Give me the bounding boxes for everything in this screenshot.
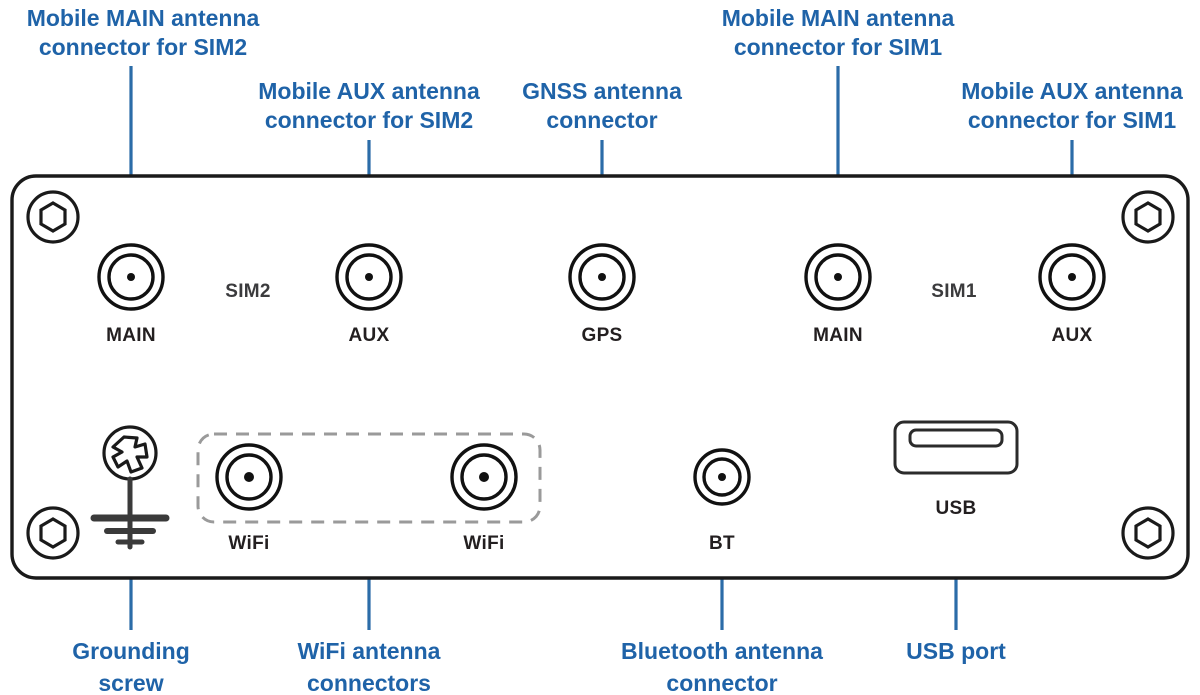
- device-body-outline: [12, 176, 1188, 578]
- connector-sim2-main[interactable]: [99, 245, 163, 309]
- callout-mobile-aux-sim1-line2: connector for SIM1: [968, 107, 1177, 133]
- connector-gps[interactable]: [570, 245, 634, 309]
- label-connector-bt: BT: [709, 533, 735, 554]
- connector-sim1-aux[interactable]: [1040, 245, 1104, 309]
- callout-grounding-screw-line1: Grounding: [72, 638, 190, 664]
- label-usb-port: USB: [935, 498, 976, 519]
- top-callout-labels: Mobile MAIN antenna connector for SIM2 M…: [27, 5, 1183, 133]
- callout-mobile-main-sim1-line2: connector for SIM1: [734, 34, 943, 60]
- sim2-group-label: SIM2: [225, 281, 271, 302]
- screw-top-right: [1123, 192, 1173, 242]
- device-body: [12, 176, 1188, 578]
- label-connector-wifi-left: WiFi: [228, 533, 269, 554]
- connector-wifi-left[interactable]: [217, 445, 281, 509]
- connector-bt[interactable]: [695, 450, 749, 504]
- callout-grounding-screw-line2: screw: [98, 670, 163, 695]
- callout-wifi-antenna-connectors-line2: connectors: [307, 670, 431, 695]
- connector-wifi-right-center-pin: [479, 472, 489, 482]
- connector-gps-center-pin: [598, 273, 606, 281]
- screw-top-left: [28, 192, 78, 242]
- connector-sim2-aux-center-pin: [365, 273, 373, 281]
- connector-wifi-right[interactable]: [452, 445, 516, 509]
- callout-mobile-main-sim2-line2: connector for SIM2: [39, 34, 247, 60]
- connector-sim2-main-center-pin: [127, 273, 135, 281]
- callout-bluetooth-antenna-connector-line1: Bluetooth antenna: [621, 638, 823, 664]
- callout-gnss-antenna-line1: GNSS antenna: [522, 78, 682, 104]
- connector-sim2-aux[interactable]: [337, 245, 401, 309]
- connector-sim1-main[interactable]: [806, 245, 870, 309]
- callout-gnss-antenna-line2: connector: [546, 107, 657, 133]
- callout-mobile-aux-sim1-line1: Mobile AUX antenna: [961, 78, 1183, 104]
- connector-sim1-main-center-pin: [834, 273, 842, 281]
- connector-diagram: Mobile MAIN antenna connector for SIM2 M…: [0, 0, 1200, 695]
- usb-port-inner-bar: [910, 430, 1002, 446]
- screw-bottom-left-hex: [41, 519, 65, 547]
- label-connector-sim1-aux: AUX: [1051, 325, 1092, 346]
- callout-bluetooth-antenna-connector-line2: connector: [666, 670, 777, 695]
- connector-sim1-aux-center-pin: [1068, 273, 1076, 281]
- label-connector-sim1-main: MAIN: [813, 325, 863, 346]
- device-rear-panel-illustration: Mobile MAIN antenna connector for SIM2 M…: [0, 0, 1200, 695]
- label-connector-wifi-right: WiFi: [463, 533, 504, 554]
- screw-bottom-left: [28, 508, 78, 558]
- callout-mobile-aux-sim2-line1: Mobile AUX antenna: [258, 78, 480, 104]
- callout-mobile-aux-sim2-line2: connector for SIM2: [265, 107, 473, 133]
- screw-top-right-hex: [1136, 203, 1160, 231]
- usb-port-shape[interactable]: [895, 422, 1017, 473]
- callout-wifi-antenna-connectors-line1: WiFi antenna: [298, 638, 441, 664]
- screw-top-left-hex: [41, 203, 65, 231]
- bottom-callout-labels: Grounding screw WiFi antenna connectors …: [72, 638, 1006, 695]
- callout-mobile-main-sim1-line1: Mobile MAIN antenna: [722, 5, 955, 31]
- label-connector-gps: GPS: [581, 325, 622, 346]
- screw-bottom-right-hex: [1136, 519, 1160, 547]
- callout-usb-port-line1: USB port: [906, 638, 1006, 664]
- label-connector-sim2-aux: AUX: [348, 325, 389, 346]
- connector-bt-center-pin: [718, 473, 726, 481]
- sim1-group-label: SIM1: [931, 281, 977, 302]
- label-connector-sim2-main: MAIN: [106, 325, 156, 346]
- screw-bottom-right: [1123, 508, 1173, 558]
- connector-wifi-left-center-pin: [244, 472, 254, 482]
- callout-mobile-main-sim2-line1: Mobile MAIN antenna: [27, 5, 260, 31]
